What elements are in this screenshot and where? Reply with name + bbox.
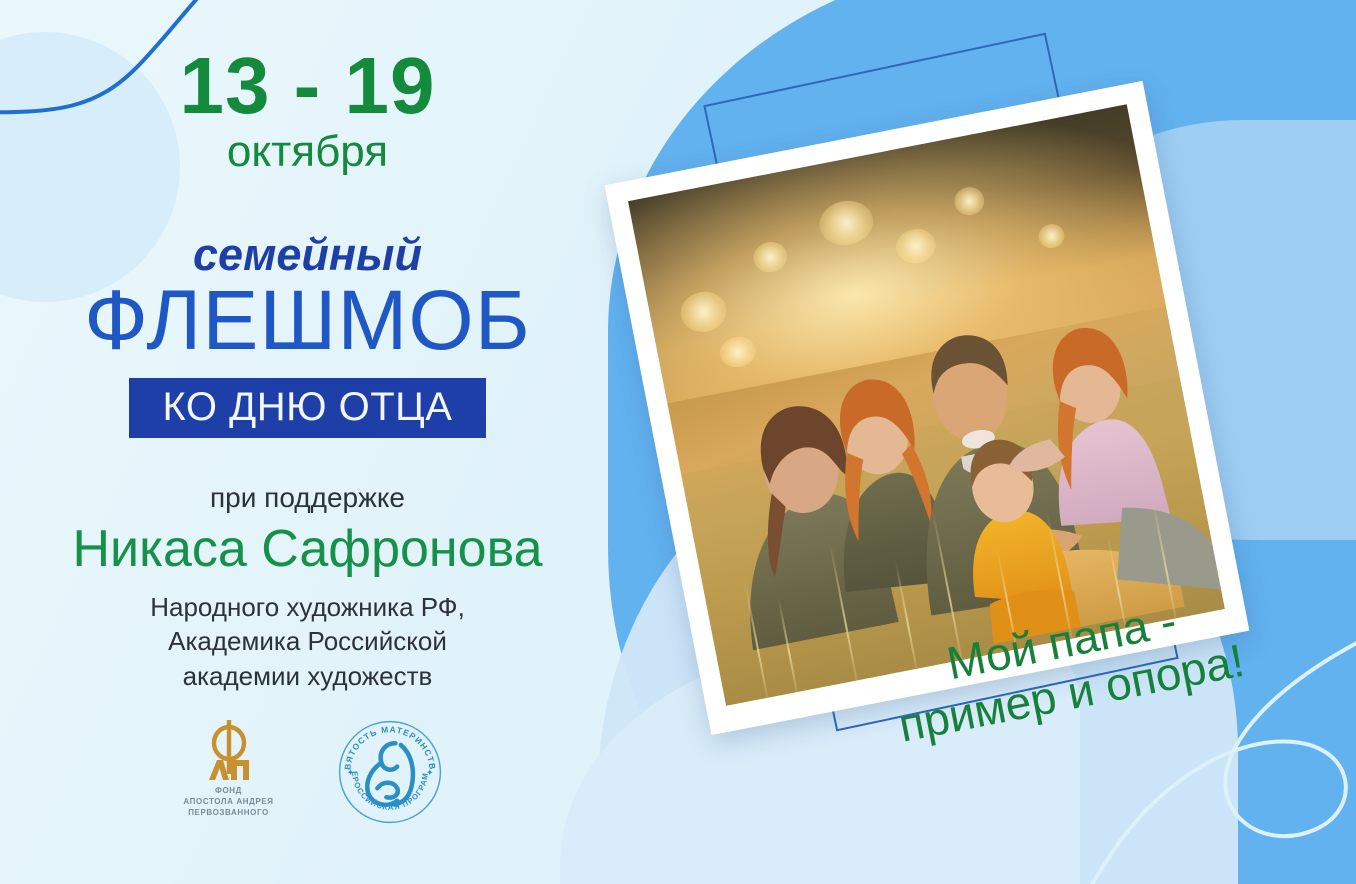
left-content-column: 13 - 19 октября семейный ФЛЕШМОБ КО ДНЮ … <box>0 0 615 884</box>
support-description-line-3: академии художеств <box>0 659 615 693</box>
fond-apostola-andreya-logo: ФОНД АПОСТОЛА АНДРЕЯ ПЕРВОЗВАННОГО <box>170 718 288 818</box>
title-badge: КО ДНЮ ОТЦА <box>129 378 487 438</box>
event-date-month: октября <box>0 130 615 174</box>
faap-caption-line-3: ПЕРВОЗВАННОГО <box>170 808 288 819</box>
motherhood-emblem-icon: СВЯТОСТЬ МАТЕРИНСТВА ВСЕРОССИЙСКАЯ ПРОГР… <box>336 718 444 826</box>
title-kicker: семейный <box>0 232 615 277</box>
svyatost-materinstva-logo: СВЯТОСТЬ МАТЕРИНСТВА ВСЕРОССИЙСКАЯ ПРОГР… <box>334 718 446 831</box>
title-headline: ФЛЕШМОБ <box>0 278 615 362</box>
faap-caption-line-2: АПОСТОЛА АНДРЕЯ <box>170 797 288 808</box>
support-person-name: Никаса Сафронова <box>0 520 615 580</box>
logo-row: ФОНД АПОСТОЛА АНДРЕЯ ПЕРВОЗВАННОГО <box>0 718 615 831</box>
poster-root: 13 - 19 октября семейный ФЛЕШМОБ КО ДНЮ … <box>0 0 1356 884</box>
event-date-range: 13 - 19 <box>0 46 615 126</box>
support-prefix: при поддержке <box>0 484 615 512</box>
support-description-line-2: Академика Российской <box>0 624 615 658</box>
star-left-icon: ✦ <box>346 768 354 778</box>
star-right-icon: ✦ <box>426 768 434 778</box>
support-description-line-1: Народного художника РФ, <box>0 590 615 624</box>
support-description: Народного художника РФ, Академика Россий… <box>0 590 615 693</box>
faap-monogram-icon <box>197 718 261 784</box>
faap-caption: ФОНД АПОСТОЛА АНДРЕЯ ПЕРВОЗВАННОГО <box>170 786 288 818</box>
title-badge-wrap: КО ДНЮ ОТЦА <box>0 378 615 438</box>
faap-caption-line-1: ФОНД <box>170 786 288 797</box>
